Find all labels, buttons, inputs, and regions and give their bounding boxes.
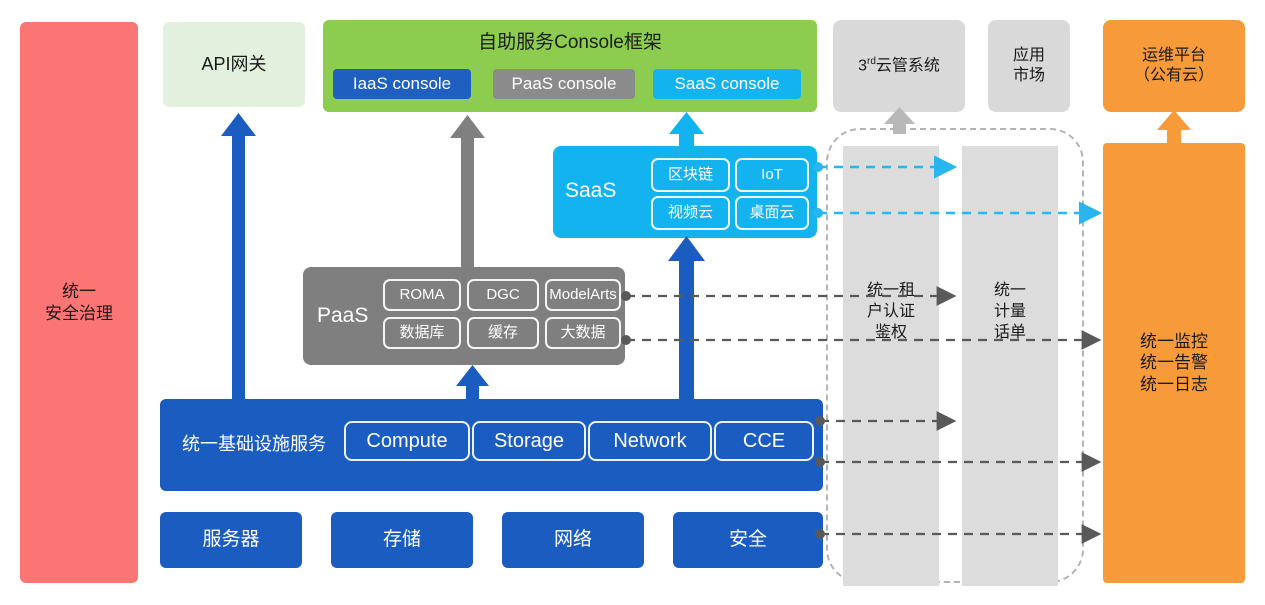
saas-console-badge[interactable]: SaaS console: [653, 69, 801, 99]
hardware-box-security[interactable]: 安全: [673, 512, 823, 568]
console-panel-title: 自助服务Console框架: [323, 31, 817, 55]
arrow-paas-to-console: [450, 115, 485, 268]
paas-chip-database[interactable]: 数据库: [383, 317, 461, 349]
tenant-auth-label: 统一租 户认证 鉴权: [843, 281, 939, 343]
paas-layer-box: PaaS ROMA DGC ModelArts 数据库 缓存 大数据: [303, 267, 625, 365]
arrow-saas-to-console: [669, 112, 704, 148]
saas-chip-blockchain[interactable]: 区块链: [651, 158, 730, 192]
saas-chip-iot[interactable]: IoT: [735, 158, 809, 192]
architecture-diagram: 统一 安全治理 API网关 自助服务Console框架 IaaS console…: [0, 0, 1265, 605]
saas-layer-box: SaaS 区块链 IoT 视频云 桌面云: [553, 146, 817, 238]
api-gateway-box: API网关: [163, 22, 305, 107]
infra-chip-storage[interactable]: Storage: [472, 421, 586, 461]
arrow-infra-to-api-gateway: [221, 113, 256, 400]
paas-chip-modelarts[interactable]: ModelArts: [545, 279, 621, 311]
arrow-ops-body-to-ops-platform: [1157, 110, 1191, 144]
arrow-infra-to-paas: [456, 365, 489, 400]
infra-chip-network[interactable]: Network: [588, 421, 712, 461]
metering-billing-column: [962, 146, 1058, 586]
paas-layer-label: PaaS: [317, 303, 368, 329]
tenant-auth-column: [843, 146, 939, 586]
hardware-box-server[interactable]: 服务器: [160, 512, 302, 568]
saas-chip-desktop-cloud[interactable]: 桌面云: [735, 196, 809, 230]
infra-chip-cce[interactable]: CCE: [714, 421, 814, 461]
infrastructure-label: 统一基础设施服务: [182, 433, 326, 456]
paas-chip-dgc[interactable]: DGC: [467, 279, 539, 311]
paas-chip-cache[interactable]: 缓存: [467, 317, 539, 349]
saas-chip-video-cloud[interactable]: 视频云: [651, 196, 730, 230]
paas-chip-bigdata[interactable]: 大数据: [545, 317, 621, 349]
third-party-label: 3rd云管系统: [858, 56, 940, 76]
ops-platform-box: 运维平台 （公有云）: [1103, 20, 1245, 112]
hardware-box-network[interactable]: 网络: [502, 512, 644, 568]
hardware-box-storage[interactable]: 存储: [331, 512, 473, 568]
infra-chip-compute[interactable]: Compute: [344, 421, 470, 461]
unified-infrastructure-service-bar: 统一基础设施服务 Compute Storage Network CCE: [160, 399, 823, 491]
self-service-console-panel: 自助服务Console框架 IaaS console PaaS console …: [323, 20, 817, 112]
metering-billing-label: 统一 计量 话单: [962, 281, 1058, 343]
paas-chip-roma[interactable]: ROMA: [383, 279, 461, 311]
ops-monitoring-panel: 统一监控 统一告警 统一日志: [1103, 143, 1245, 583]
saas-layer-label: SaaS: [565, 178, 616, 204]
iaas-console-badge[interactable]: IaaS console: [333, 69, 471, 99]
third-party-cloud-management-box: 3rd云管系统: [833, 20, 965, 112]
paas-console-badge[interactable]: PaaS console: [493, 69, 635, 99]
arrow-infra-to-saas: [668, 236, 705, 401]
unified-security-governance-panel: 统一 安全治理: [20, 22, 138, 583]
app-market-box: 应用 市场: [988, 20, 1070, 112]
